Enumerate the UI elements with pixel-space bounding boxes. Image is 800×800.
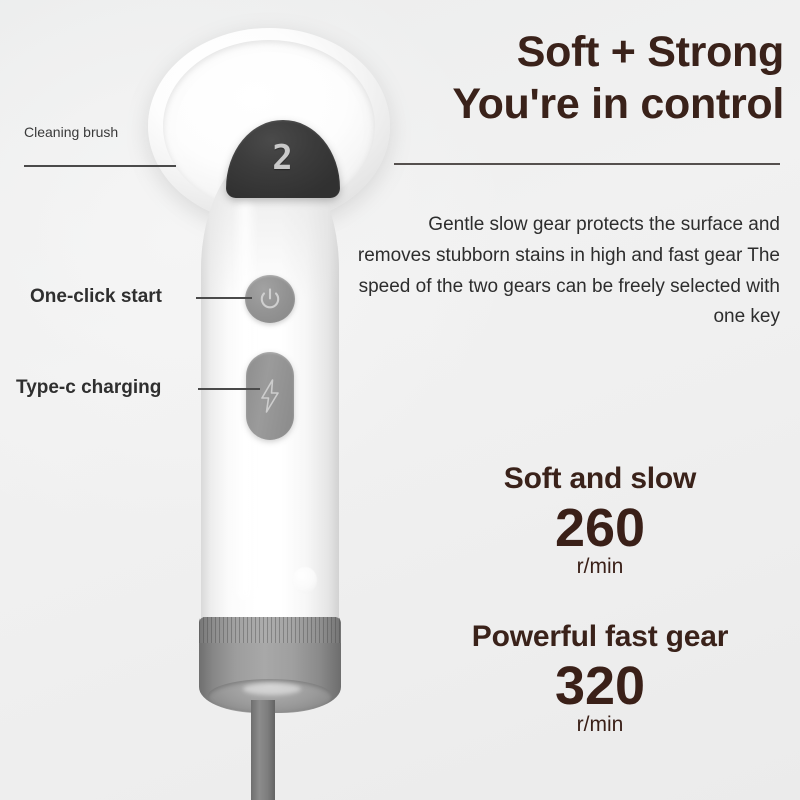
spec-title: Soft and slow <box>420 462 780 496</box>
spec-soft-and-slow: Soft and slow 260 r/min <box>420 462 780 579</box>
charging-port[interactable] <box>246 352 294 440</box>
headline-line-1: Soft + Strong <box>370 26 784 78</box>
spec-value: 260 <box>420 500 780 557</box>
collar-bottom-lip <box>208 679 332 713</box>
handle-collar <box>199 617 341 713</box>
brush-head-ring <box>163 40 375 212</box>
callout-label-cleaning-brush: Cleaning brush <box>24 124 118 140</box>
spec-powerful-fast-gear: Powerful fast gear 320 r/min <box>420 620 780 737</box>
callout-line-type-c-charging <box>198 388 260 390</box>
handle-detail-bump <box>293 567 317 593</box>
callout-label-one-click-start: One-click start <box>30 286 162 308</box>
brush-head-disc <box>148 28 390 224</box>
spec-unit: r/min <box>420 555 780 579</box>
speed-display-screen: 2 <box>226 120 340 198</box>
body-copy: Gentle slow gear protects the surface an… <box>352 210 780 333</box>
headline-divider <box>394 163 780 165</box>
brush-head-inner <box>176 52 364 204</box>
handle-top-shading <box>201 150 339 300</box>
product-feature-page: 2 Cleaning brush One-click start Type-c … <box>0 0 800 800</box>
product-handle <box>201 150 339 630</box>
power-button[interactable] <box>245 275 295 323</box>
power-icon <box>257 286 283 312</box>
callout-line-one-click-start <box>196 297 252 299</box>
callout-line-cleaning-brush <box>24 165 176 167</box>
lightning-bolt-icon <box>259 379 281 413</box>
headline: Soft + Strong You're in control <box>370 26 784 130</box>
spec-unit: r/min <box>420 713 780 737</box>
collar-ribbed-texture <box>199 617 341 643</box>
handle-highlight <box>232 200 258 600</box>
callout-label-type-c-charging: Type-c charging <box>16 377 161 399</box>
extension-rod <box>251 700 275 800</box>
collar-highlight <box>243 683 301 695</box>
spec-title: Powerful fast gear <box>420 620 780 654</box>
speed-level-value: 2 <box>226 138 340 178</box>
headline-line-2: You're in control <box>370 78 784 130</box>
spec-value: 320 <box>420 658 780 715</box>
